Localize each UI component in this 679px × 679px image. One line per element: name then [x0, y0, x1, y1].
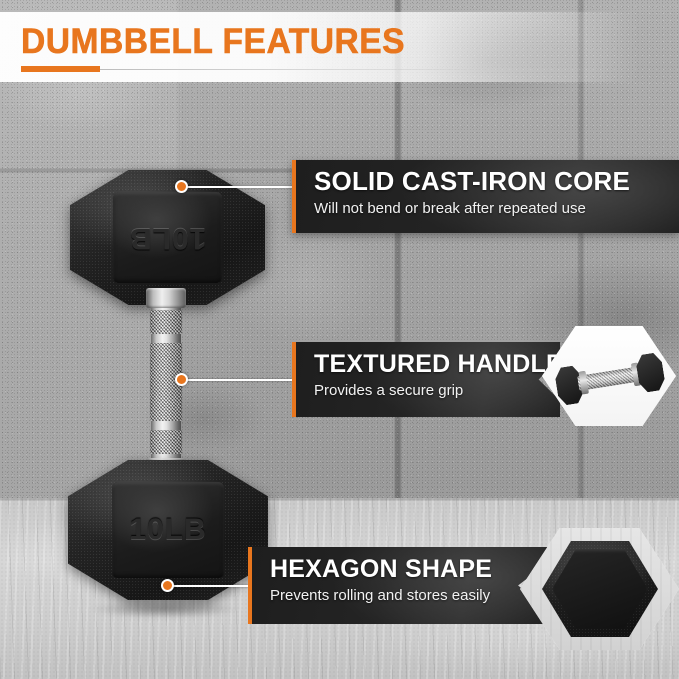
callout-1-title: SOLID CAST-IRON CORE — [314, 168, 630, 195]
marker-dot-hexagon — [161, 579, 174, 592]
leader-line-1 — [186, 186, 294, 188]
callout-1-subtitle: Will not bend or break after repeated us… — [314, 200, 586, 218]
callout-3-accent-bar — [248, 547, 252, 624]
callout-3-title: HEXAGON SHAPE — [270, 556, 492, 583]
infographic-canvas: DUMBBELL FEATURES 10LB 10LB — [0, 0, 679, 679]
callout-solid-cast-iron-core: SOLID CAST-IRON CORE Will not bend or br… — [292, 160, 679, 233]
handle-collar-top — [146, 288, 186, 308]
page-title: DUMBBELL FEATURES — [21, 24, 405, 59]
top-plate-label-plate: 10LB — [113, 192, 222, 284]
callout-2-accent-bar — [292, 342, 296, 417]
bottom-plate-label-plate: 10LB — [112, 482, 224, 577]
callout-3-subtitle: Prevents rolling and stores easily — [270, 587, 490, 605]
header-accent-bar — [21, 66, 100, 72]
handle-knurl-band-bottom — [150, 430, 182, 454]
bottom-plate-weight-label: 10LB — [112, 513, 224, 547]
callout-2-title: TEXTURED HANDLE — [314, 351, 563, 378]
handle-knurl-band-top — [150, 310, 182, 334]
header-divider-line — [21, 69, 621, 70]
leader-line-3 — [172, 585, 250, 587]
leader-line-2 — [186, 379, 294, 381]
callout-1-accent-bar — [292, 160, 296, 233]
marker-dot-core — [175, 180, 188, 193]
dumbbell-product-image: 10LB 10LB — [60, 160, 275, 610]
callout-hexagon-shape: HEXAGON SHAPE Prevents rolling and store… — [248, 547, 548, 624]
marker-dot-handle — [175, 373, 188, 386]
dumbbell-top-plate: 10LB — [70, 170, 265, 305]
top-plate-weight-label: 10LB — [113, 221, 222, 255]
callout-textured-handle: TEXTURED HANDLE Provides a secure grip — [292, 342, 560, 417]
callout-2-subtitle: Provides a secure grip — [314, 382, 463, 400]
